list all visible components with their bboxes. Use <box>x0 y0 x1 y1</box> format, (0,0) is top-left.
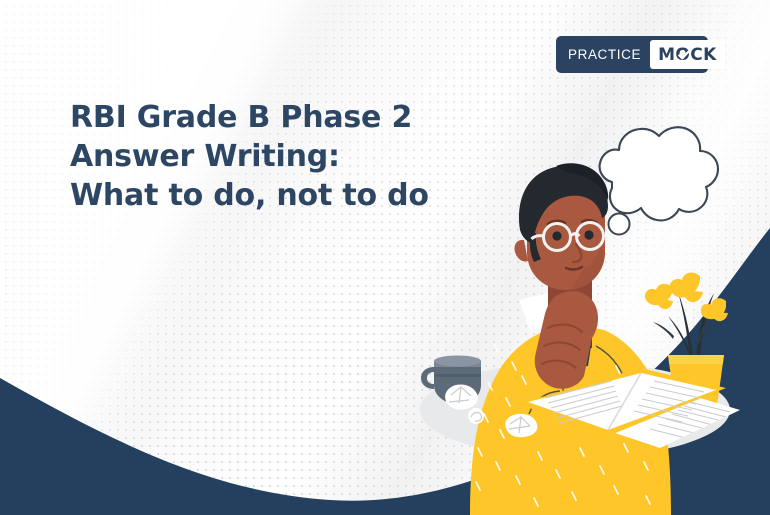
thought-bubble <box>592 127 718 243</box>
headline-line-2: Answer Writing: <box>70 137 490 176</box>
banner-root: PRACTICE MOCK RBI Grade B Phase 2 Answer… <box>0 0 770 515</box>
headline-line-1: RBI Grade B Phase 2 <box>70 98 490 137</box>
logo-mock-text: MOCK <box>658 45 717 65</box>
practicemock-logo[interactable]: PRACTICE MOCK <box>556 36 708 73</box>
crumpled-paper-ball-mid <box>468 408 484 424</box>
thought-bubble-dot-large <box>609 214 630 235</box>
logo-practice-text: PRACTICE <box>556 47 650 62</box>
headline: RBI Grade B Phase 2 Answer Writing: What… <box>70 98 490 215</box>
illustration-scene <box>0 0 770 515</box>
headline-line-3: What to do, not to do <box>70 176 490 215</box>
person-head <box>514 163 608 315</box>
logo-mock-block: MOCK <box>650 40 725 69</box>
